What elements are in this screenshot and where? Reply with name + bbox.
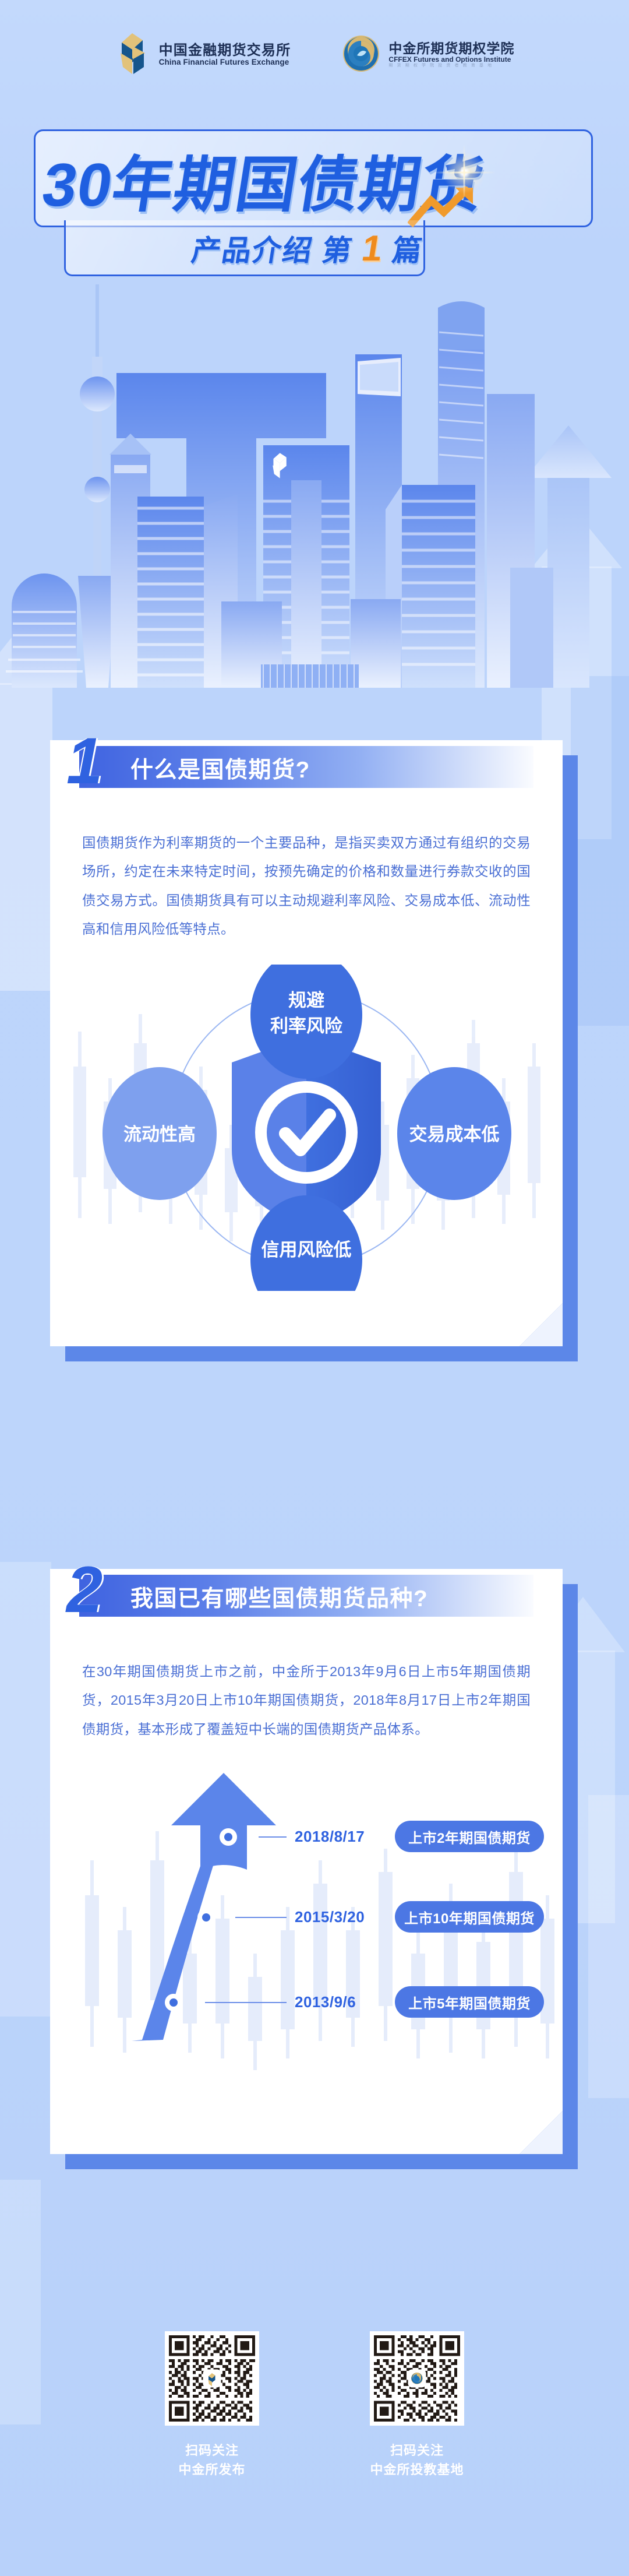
qr-item-institute: 扫码关注 中金所投教基地 — [370, 2331, 464, 2541]
card-fold-corner-2 — [520, 2111, 563, 2154]
bg-bar-5 — [588, 1795, 629, 2098]
timeline-date-3: 2013/9/6 — [295, 1993, 356, 2011]
brand-header: 中国金融期货交易所 China Financial Futures Exchan… — [0, 0, 629, 99]
section-1-paragraph: 国债期货作为利率期货的一个主要品种，是指买卖双方通过有组织的交易场所，约定在未来… — [82, 829, 531, 944]
city-skyline-illustration — [0, 280, 629, 688]
institute-logo-en: CFFEX Futures and Options Institute — [388, 56, 514, 64]
card-fold-corner — [520, 1303, 563, 1346]
bubble-top-line2: 利率风险 — [270, 1016, 343, 1036]
hero-title-block: 30年期国债期货 产品介绍 第 1 篇 — [0, 99, 629, 309]
cffex-logo: 中国金融期货交易所 China Financial Futures Exchan… — [115, 32, 291, 78]
section-2-card-wrapper: 2 我国已有哪些国债期货品种? 在30年期国债期货上市之前，中金所于2013年9… — [50, 1526, 579, 2154]
timeline-connector-1 — [259, 1836, 287, 1838]
section-1-card: 1 什么是国债期货? 国债期货作为利率期货的一个主要品种，是指买卖双方通过有组织… — [50, 740, 563, 1346]
bubble-bottom: 信用风险低 — [262, 1240, 352, 1260]
subtitle-word: 第 — [319, 227, 356, 269]
page-title: 30年期国债期货 — [37, 135, 599, 223]
cffex-logo-cn: 中国金融期货交易所 — [159, 43, 291, 58]
section-2-title: 我国已有哪些国债期货品种? — [130, 1584, 428, 1610]
qr-caption-publish: 扫码关注 中金所发布 — [178, 2441, 245, 2479]
subtitle-number: 1 — [359, 228, 387, 269]
qr-caption-institute-line2: 中金所投教基地 — [370, 2460, 464, 2479]
timeline-label-1[interactable]: 上市2年期国债期货 — [395, 1821, 544, 1852]
timeline-label-2[interactable]: 上市10年期国债期货 — [395, 1901, 544, 1933]
section-1-header: 1 什么是国债期货? — [50, 740, 563, 794]
qr-caption-publish-line2: 中金所发布 — [178, 2460, 245, 2479]
timeline-connector-2 — [235, 1917, 287, 1918]
section-2-paragraph: 在30年期国债期货上市之前，中金所于2013年9月6日上市5年期国债期货，201… — [82, 1657, 531, 1744]
timeline-connector-3 — [205, 2002, 287, 2003]
title-sparkle-icon — [432, 149, 496, 205]
institute-logo: 中金所期货期权学院 CFFEX Futures and Options Inst… — [342, 34, 514, 76]
subtitle: 产品介绍 第 1 篇 — [188, 223, 522, 274]
bubble-right: 交易成本低 — [409, 1124, 500, 1145]
bubble-top-line1: 规避 — [288, 990, 324, 1011]
timeline-date-2: 2015/3/20 — [295, 1908, 365, 1926]
qr-item-publish: 扫码关注 中金所发布 — [165, 2331, 259, 2541]
qr-code-institute[interactable] — [370, 2331, 464, 2426]
cffex-mark-icon — [115, 32, 151, 78]
bg-bar-1 — [0, 1562, 51, 2017]
section-2-card: 2 我国已有哪些国债期货品种? 在30年期国债期货上市之前，中金所于2013年9… — [50, 1569, 563, 2154]
institute-mark-icon — [342, 34, 380, 76]
section-1-title: 什么是国债期货? — [130, 755, 310, 781]
qr-code-publish[interactable] — [165, 2331, 259, 2426]
qr-footer: 扫码关注 中金所发布 — [0, 2308, 629, 2541]
qr-caption-publish-line1: 扫码关注 — [178, 2441, 245, 2460]
subtitle-suffix: 篇 — [390, 227, 426, 269]
qr-caption-institute-line1: 扫码关注 — [370, 2441, 464, 2460]
section-1-number: 1 — [66, 729, 100, 794]
section-1-card-wrapper: 1 什么是国债期货? 国债期货作为利率期货的一个主要品种，是指买卖双方通过有组织… — [50, 697, 579, 1346]
institute-logo-sub: 期 货 期 权 学 院 投 资 者 教 育 基 地 — [388, 64, 514, 68]
qr-caption-institute: 扫码关注 中金所投教基地 — [370, 2441, 464, 2479]
cffex-logo-en: China Financial Futures Exchange — [159, 58, 291, 67]
product-timeline: 2018/8/17 2015/3/20 2013/9/6 上市2年期国债期货 上… — [50, 1767, 563, 2047]
timeline-date-1: 2018/8/17 — [295, 1828, 365, 1846]
timeline-label-3[interactable]: 上市5年期国债期货 — [395, 1986, 544, 2018]
section-2-number: 2 — [66, 1557, 100, 1623]
shield-feature-diagram: 规避 利率风险 流动性高 交易成本低 信用风险低 — [50, 965, 563, 1291]
section-2-header: 2 我国已有哪些国债期货品种? — [50, 1569, 563, 1623]
subtitle-prefix: 产品介绍 — [189, 227, 316, 269]
bg-bar-2 — [571, 676, 629, 1026]
bubble-left: 流动性高 — [123, 1124, 196, 1145]
institute-logo-cn: 中金所期货期权学院 — [388, 41, 514, 56]
